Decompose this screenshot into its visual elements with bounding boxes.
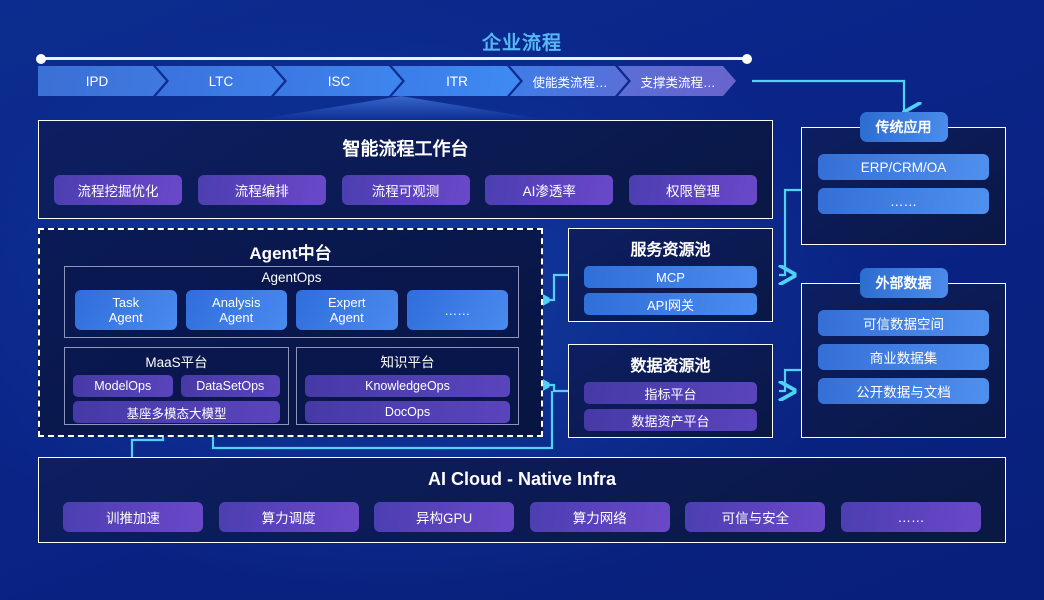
infra-tag-heterogeneous-gpu[interactable]: 异构GPU (374, 502, 514, 532)
step-label: LTC (209, 74, 234, 89)
maas-item-foundation-model[interactable]: 基座多模态大模型 (73, 401, 280, 423)
external-data-items: 可信数据空间 商业数据集 公开数据与文档 (802, 284, 1005, 404)
service-pool-item-mcp[interactable]: MCP (584, 266, 757, 288)
step-label: 使能类流程… (532, 72, 607, 91)
infra-tag-training-acceleration[interactable]: 训推加速 (63, 502, 203, 532)
workbench-tag-ai-penetration[interactable]: AI渗透率 (485, 175, 613, 205)
step-label: ISC (328, 74, 351, 89)
external-data-item-trusted-space[interactable]: 可信数据空间 (818, 310, 989, 336)
infra-tag-compute-scheduling[interactable]: 算力调度 (219, 502, 359, 532)
step-label: ITR (446, 74, 468, 89)
workbench-tag-list: 流程挖掘优化 流程编排 流程可观测 AI渗透率 权限管理 (39, 175, 772, 205)
traditional-app-item-more[interactable]: …… (818, 188, 989, 214)
maas-group: MaaS平台 ModelOps DataSetOps 基座多模态大模型 (64, 347, 289, 425)
external-data-title: 外部数据 (860, 268, 948, 298)
process-chevrons: IPD LTC ISC ITR 使能类流程… 支撑类流程… (38, 66, 738, 96)
external-data-item-commercial-dataset[interactable]: 商业数据集 (818, 344, 989, 370)
agentops-card-list: Task Agent Analysis Agent Expert Agent …… (65, 290, 518, 330)
workbench-panel: 智能流程工作台 流程挖掘优化 流程编排 流程可观测 AI渗透率 权限管理 (38, 120, 773, 219)
knowledge-platform-title: 知识平台 (297, 351, 518, 371)
process-step-itr[interactable]: ITR (392, 66, 520, 96)
process-step-isc[interactable]: ISC (274, 66, 402, 96)
infra-title: AI Cloud - Native Infra (39, 469, 1005, 490)
maas-item-datasetops[interactable]: DataSetOps (181, 375, 281, 397)
agent-card-expert[interactable]: Expert Agent (296, 290, 398, 330)
agent-hub-panel: Agent中台 AgentOps Task Agent Analysis Age… (38, 228, 543, 437)
maas-row-2: 基座多模态大模型 (65, 401, 288, 423)
step-label: 支撑类流程… (640, 72, 715, 91)
infra-panel: AI Cloud - Native Infra 训推加速 算力调度 异构GPU … (38, 457, 1006, 543)
agentops-group: AgentOps Task Agent Analysis Agent Exper… (64, 266, 519, 338)
data-pool-item-metrics[interactable]: 指标平台 (584, 382, 757, 404)
external-data-item-public-docs[interactable]: 公开数据与文档 (818, 378, 989, 404)
workbench-tag-orchestration[interactable]: 流程编排 (198, 175, 326, 205)
agent-card-line2: Agent (109, 310, 143, 325)
knowledge-item-docops[interactable]: DocOps (305, 401, 510, 423)
workbench-tag-process-mining[interactable]: 流程挖掘优化 (54, 175, 182, 205)
agent-card-line1: Analysis (212, 295, 260, 310)
process-step-ltc[interactable]: LTC (156, 66, 284, 96)
agent-card-line2: Agent (330, 310, 364, 325)
traditional-app-item-erp[interactable]: ERP/CRM/OA (818, 154, 989, 180)
agent-card-more[interactable]: …… (407, 290, 509, 330)
step-label: IPD (86, 74, 109, 89)
service-pool-title: 服务资源池 (569, 236, 772, 260)
knowledge-platform-group: 知识平台 KnowledgeOps DocOps (296, 347, 519, 425)
maas-title: MaaS平台 (65, 351, 288, 371)
service-pool-item-api-gateway[interactable]: API网关 (584, 293, 757, 315)
data-pool-panel: 数据资源池 指标平台 数据资产平台 (568, 344, 773, 438)
infra-tag-compute-network[interactable]: 算力网络 (530, 502, 670, 532)
service-pool-panel: 服务资源池 MCP API网关 (568, 228, 773, 322)
process-step-ipd[interactable]: IPD (38, 66, 166, 96)
infra-tag-list: 训推加速 算力调度 异构GPU 算力网络 可信与安全 …… (39, 502, 1005, 532)
infra-tag-more[interactable]: …… (841, 502, 981, 532)
agent-card-line1: Task (112, 295, 139, 310)
process-step-enabling[interactable]: 使能类流程… (510, 66, 628, 96)
agent-card-analysis[interactable]: Analysis Agent (186, 290, 288, 330)
knowledge-item-knowledgeops[interactable]: KnowledgeOps (305, 375, 510, 397)
diagram-canvas: 企业流程 IPD LTC ISC ITR 使能类流程… 支撑类流程… 智能流程工… (0, 0, 1044, 600)
agent-hub-title: Agent中台 (40, 239, 541, 264)
traditional-app-panel: 传统应用 ERP/CRM/OA …… (801, 127, 1006, 245)
workbench-title: 智能流程工作台 (39, 135, 772, 161)
maas-item-modelops[interactable]: ModelOps (73, 375, 173, 397)
workbench-tag-permissions[interactable]: 权限管理 (629, 175, 757, 205)
agent-card-line1: …… (444, 303, 470, 318)
agent-card-line1: Expert (328, 295, 366, 310)
process-step-supporting[interactable]: 支撑类流程… (618, 66, 736, 96)
knowledge-row-1: KnowledgeOps (297, 375, 518, 397)
agent-card-line2: Agent (219, 310, 253, 325)
agentops-title: AgentOps (65, 270, 518, 285)
infra-tag-trust-security[interactable]: 可信与安全 (685, 502, 825, 532)
page-title: 企业流程 (0, 28, 1044, 55)
agent-card-task[interactable]: Task Agent (75, 290, 177, 330)
traditional-app-title: 传统应用 (860, 112, 948, 142)
data-pool-items: 指标平台 数据资产平台 (569, 382, 772, 431)
light-beam (255, 96, 547, 120)
service-pool-items: MCP API网关 (569, 266, 772, 315)
data-pool-item-asset-platform[interactable]: 数据资产平台 (584, 409, 757, 431)
external-data-panel: 外部数据 可信数据空间 商业数据集 公开数据与文档 (801, 283, 1006, 438)
workbench-tag-observability[interactable]: 流程可观测 (342, 175, 470, 205)
maas-row-1: ModelOps DataSetOps (65, 375, 288, 397)
data-pool-title: 数据资源池 (569, 352, 772, 376)
knowledge-row-2: DocOps (297, 401, 518, 423)
process-rail (38, 57, 750, 60)
